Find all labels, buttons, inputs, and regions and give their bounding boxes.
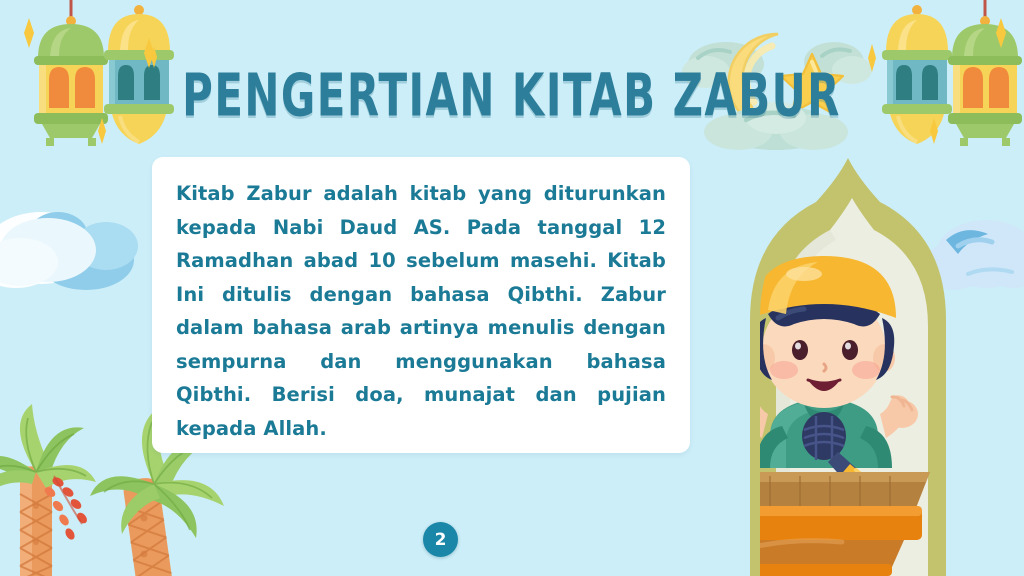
slide-canvas: Pengertian Kitab Zabur Kitab Zabur adala… [0, 0, 1024, 576]
sparkle-icon-5 [862, 44, 882, 72]
cloud-icon-left [0, 188, 156, 298]
body-paragraph: Kitab Zabur adalah kitab yang diturunkan… [176, 177, 666, 445]
cloud-icon-behind-moon [682, 42, 872, 88]
sparkle-icon-7 [924, 118, 944, 144]
sparkle-icon-3 [92, 118, 112, 144]
page-number-badge: 2 [423, 522, 458, 557]
mosque-arch-scene [700, 168, 1000, 576]
sparkle-icon-6 [990, 18, 1012, 48]
moon-star-cloud-group [686, 12, 866, 152]
content-card: Kitab Zabur adalah kitab yang diturunkan… [152, 157, 690, 453]
sparkle-icon-1 [18, 18, 40, 48]
sparkle-icon-4 [146, 46, 162, 68]
